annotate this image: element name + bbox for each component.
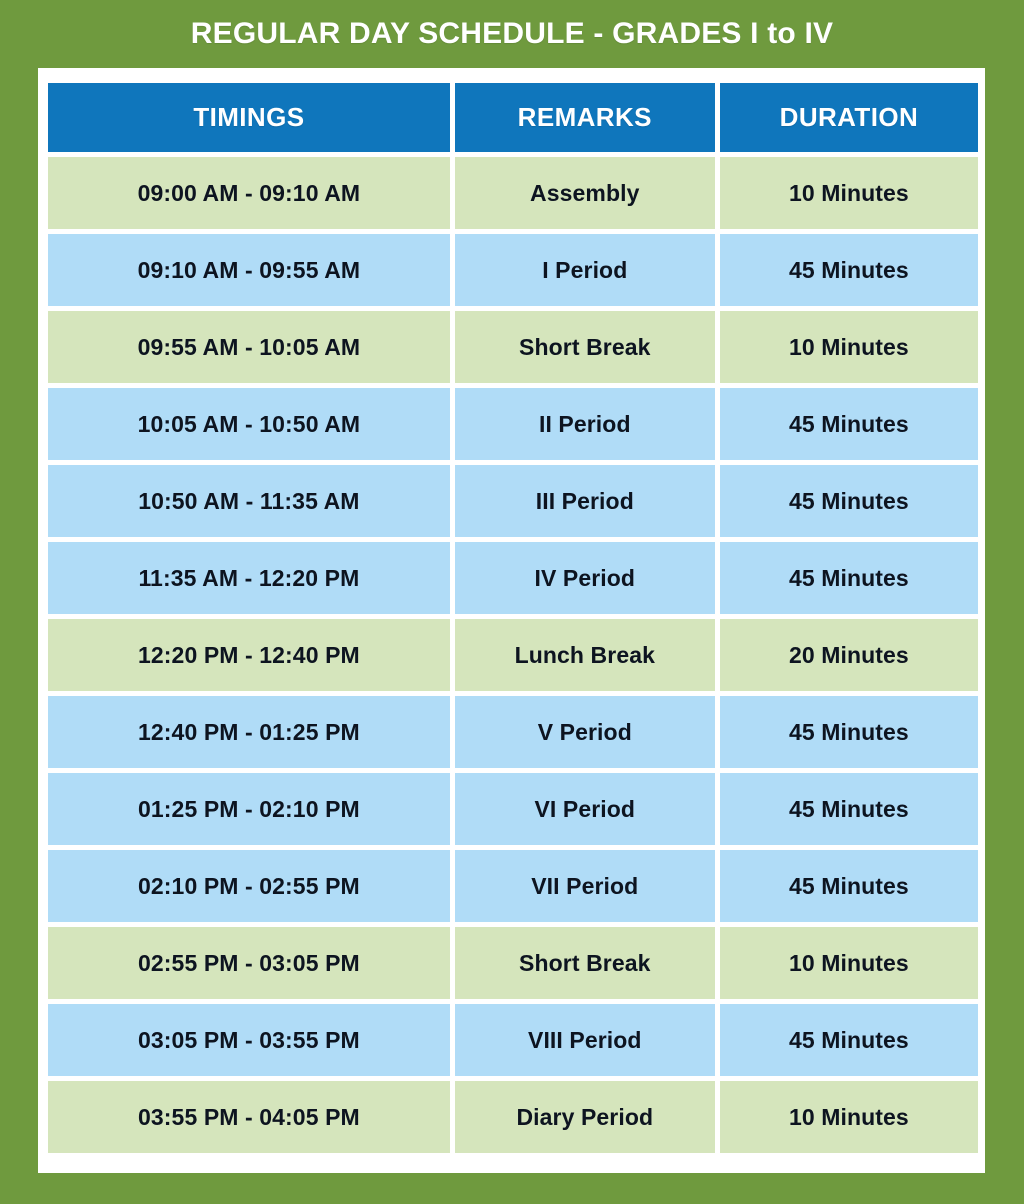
cell-remarks: Lunch Break bbox=[455, 619, 715, 691]
cell-timings: 12:40 PM - 01:25 PM bbox=[48, 696, 450, 768]
cell-timings: 02:55 PM - 03:05 PM bbox=[48, 927, 450, 999]
cell-duration: 45 Minutes bbox=[720, 696, 978, 768]
cell-duration: 10 Minutes bbox=[720, 1081, 978, 1153]
cell-duration: 10 Minutes bbox=[720, 157, 978, 229]
cell-duration: 20 Minutes bbox=[720, 619, 978, 691]
cell-remarks: VII Period bbox=[455, 850, 715, 922]
table-body: 09:00 AM - 09:10 AMAssembly10 Minutes09:… bbox=[48, 152, 978, 1153]
cell-remarks: VI Period bbox=[455, 773, 715, 845]
cell-remarks: VIII Period bbox=[455, 1004, 715, 1076]
cell-duration: 45 Minutes bbox=[720, 773, 978, 845]
schedule-table: TIMINGS REMARKS DURATION 09:00 AM - 09:1… bbox=[48, 83, 978, 1153]
table-row: 12:40 PM - 01:25 PMV Period45 Minutes bbox=[48, 696, 978, 768]
cell-remarks: Assembly bbox=[455, 157, 715, 229]
cell-remarks: II Period bbox=[455, 388, 715, 460]
cell-remarks: Diary Period bbox=[455, 1081, 715, 1153]
column-header-timings: TIMINGS bbox=[48, 83, 450, 152]
cell-remarks: V Period bbox=[455, 696, 715, 768]
table-row: 01:25 PM - 02:10 PMVI Period45 Minutes bbox=[48, 773, 978, 845]
cell-duration: 45 Minutes bbox=[720, 234, 978, 306]
table-row: 12:20 PM - 12:40 PMLunch Break20 Minutes bbox=[48, 619, 978, 691]
table-row: 09:55 AM - 10:05 AMShort Break10 Minutes bbox=[48, 311, 978, 383]
cell-duration: 45 Minutes bbox=[720, 850, 978, 922]
cell-timings: 02:10 PM - 02:55 PM bbox=[48, 850, 450, 922]
table-row: 10:05 AM - 10:50 AMII Period45 Minutes bbox=[48, 388, 978, 460]
cell-duration: 45 Minutes bbox=[720, 1004, 978, 1076]
cell-timings: 09:55 AM - 10:05 AM bbox=[48, 311, 450, 383]
table-row: 09:10 AM - 09:55 AMI Period45 Minutes bbox=[48, 234, 978, 306]
cell-remarks: III Period bbox=[455, 465, 715, 537]
table-row: 03:05 PM - 03:55 PMVIII Period45 Minutes bbox=[48, 1004, 978, 1076]
cell-timings: 10:50 AM - 11:35 AM bbox=[48, 465, 450, 537]
table-row: 02:10 PM - 02:55 PMVII Period45 Minutes bbox=[48, 850, 978, 922]
cell-timings: 09:00 AM - 09:10 AM bbox=[48, 157, 450, 229]
table-row: 03:55 PM - 04:05 PMDiary Period10 Minute… bbox=[48, 1081, 978, 1153]
cell-remarks: I Period bbox=[455, 234, 715, 306]
cell-remarks: IV Period bbox=[455, 542, 715, 614]
cell-timings: 11:35 AM - 12:20 PM bbox=[48, 542, 450, 614]
table-header-row: TIMINGS REMARKS DURATION bbox=[48, 83, 978, 152]
table-row: 11:35 AM - 12:20 PMIV Period45 Minutes bbox=[48, 542, 978, 614]
column-header-duration: DURATION bbox=[720, 83, 978, 152]
cell-duration: 45 Minutes bbox=[720, 388, 978, 460]
cell-remarks: Short Break bbox=[455, 927, 715, 999]
table-header: TIMINGS REMARKS DURATION bbox=[48, 83, 978, 152]
cell-duration: 10 Minutes bbox=[720, 311, 978, 383]
table-row: 02:55 PM - 03:05 PMShort Break10 Minutes bbox=[48, 927, 978, 999]
cell-duration: 45 Minutes bbox=[720, 542, 978, 614]
cell-timings: 03:55 PM - 04:05 PM bbox=[48, 1081, 450, 1153]
page-title: REGULAR DAY SCHEDULE - GRADES I to IV bbox=[191, 17, 833, 51]
cell-timings: 01:25 PM - 02:10 PM bbox=[48, 773, 450, 845]
cell-remarks: Short Break bbox=[455, 311, 715, 383]
cell-timings: 12:20 PM - 12:40 PM bbox=[48, 619, 450, 691]
table-row: 10:50 AM - 11:35 AMIII Period45 Minutes bbox=[48, 465, 978, 537]
cell-duration: 45 Minutes bbox=[720, 465, 978, 537]
cell-timings: 03:05 PM - 03:55 PM bbox=[48, 1004, 450, 1076]
table-row: 09:00 AM - 09:10 AMAssembly10 Minutes bbox=[48, 157, 978, 229]
cell-timings: 10:05 AM - 10:50 AM bbox=[48, 388, 450, 460]
cell-duration: 10 Minutes bbox=[720, 927, 978, 999]
column-header-remarks: REMARKS bbox=[455, 83, 715, 152]
cell-timings: 09:10 AM - 09:55 AM bbox=[48, 234, 450, 306]
title-banner: REGULAR DAY SCHEDULE - GRADES I to IV bbox=[0, 0, 1024, 68]
table-frame: TIMINGS REMARKS DURATION 09:00 AM - 09:1… bbox=[38, 68, 985, 1173]
